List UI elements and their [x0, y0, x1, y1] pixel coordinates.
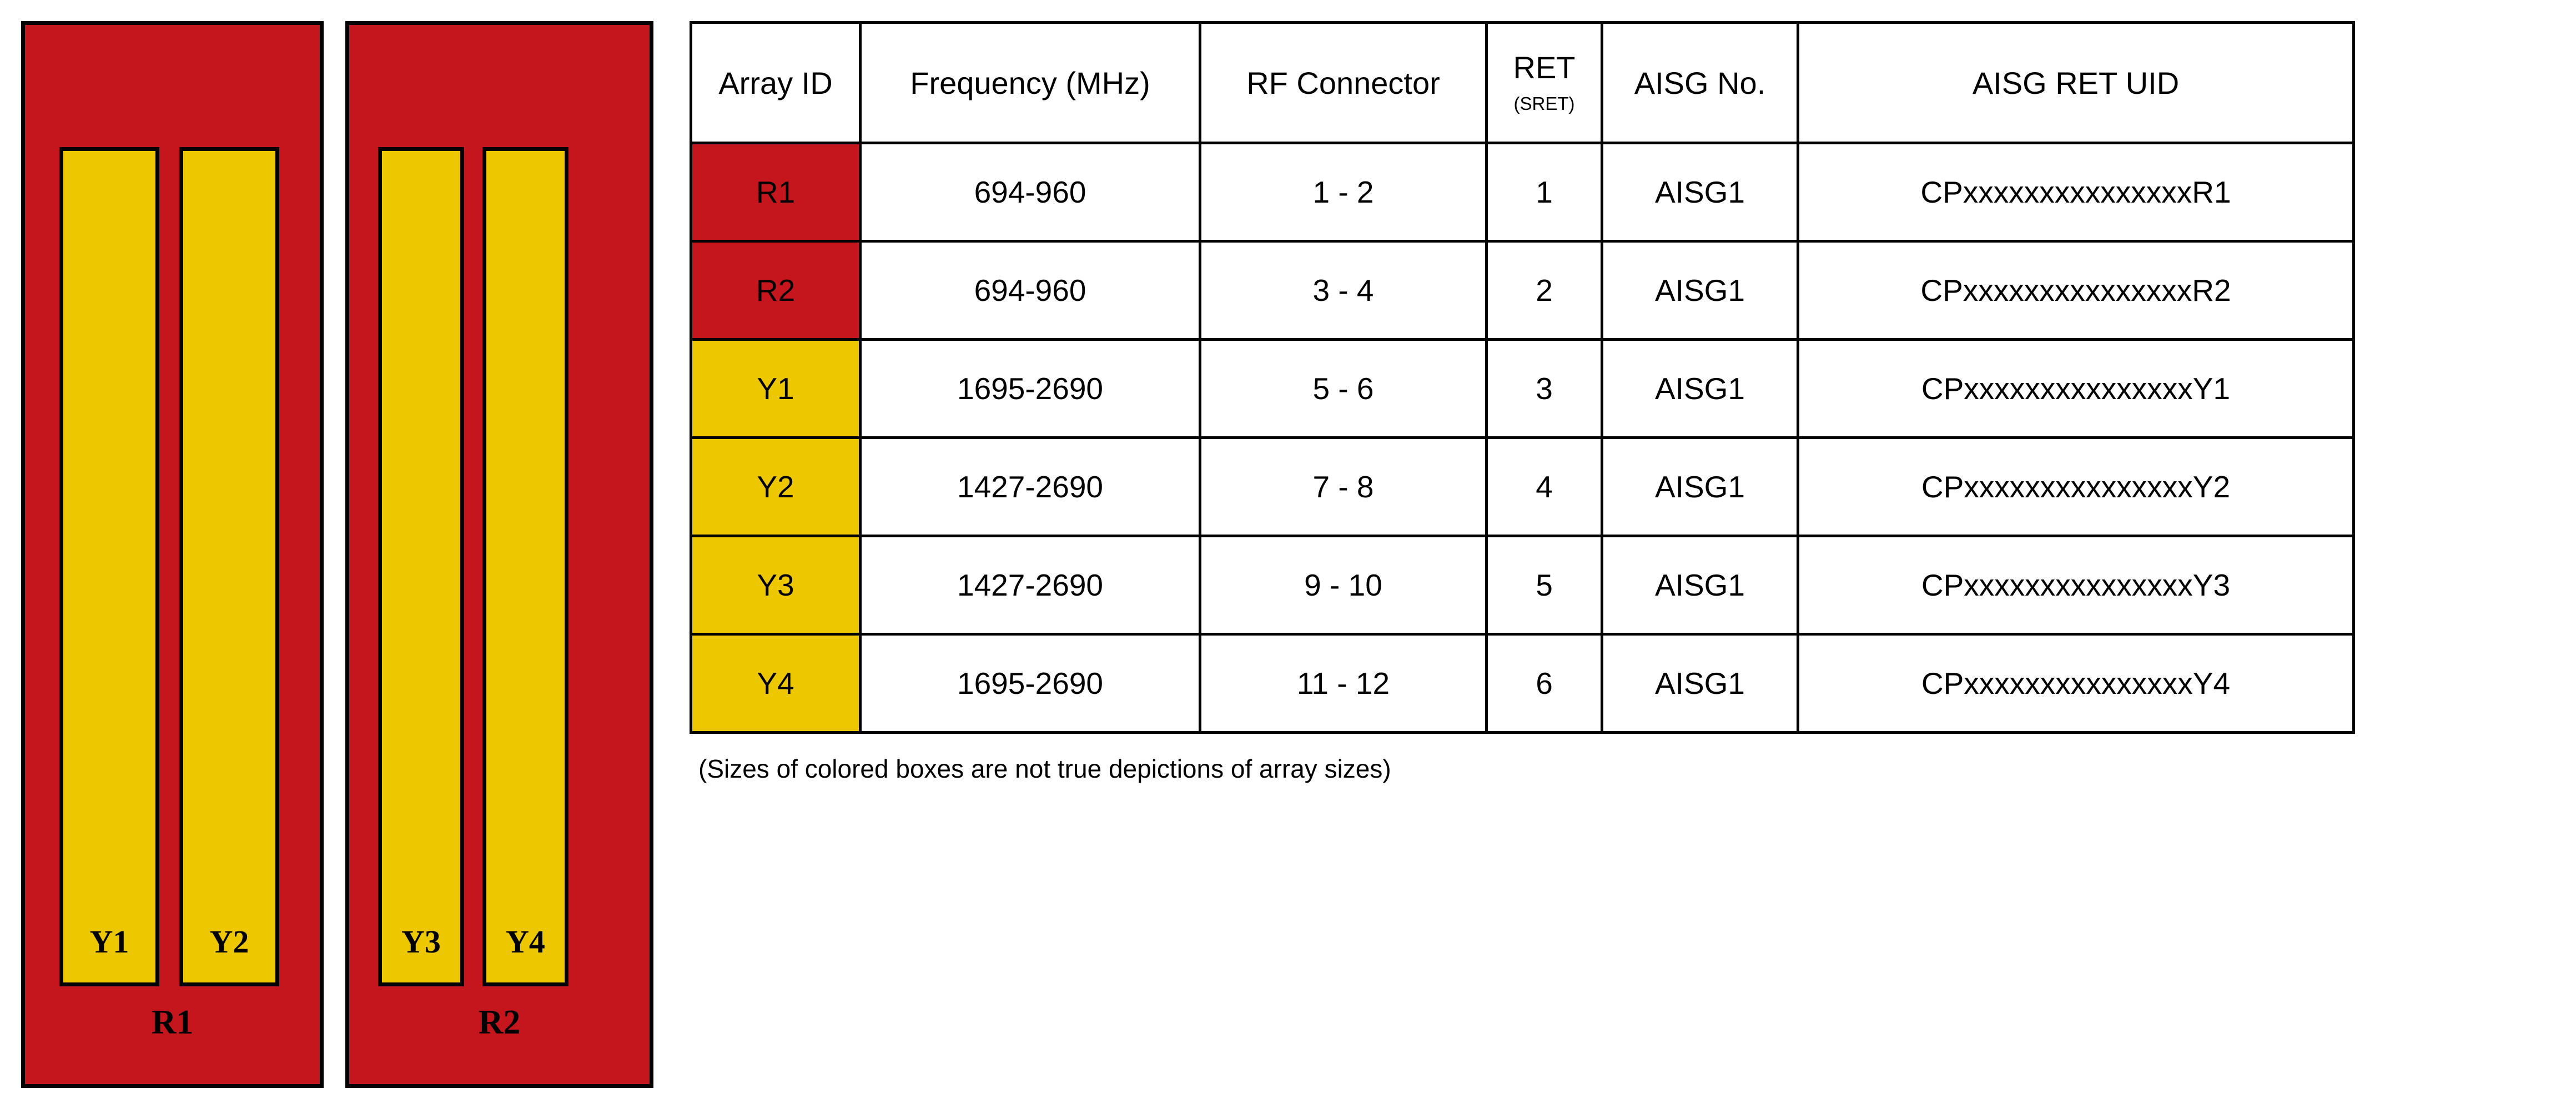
- cell-aisg-no: AISG1: [1602, 536, 1798, 634]
- ret-table-header: Array ID Frequency (MHz) RF Connector RE…: [691, 23, 2354, 143]
- cell-rf-connector: 3 - 4: [1200, 241, 1487, 340]
- cell-aisg-ret-uid: CPxxxxxxxxxxxxxxxY3: [1798, 536, 2354, 634]
- cell-aisg-ret-uid: CPxxxxxxxxxxxxxxxR2: [1798, 241, 2354, 340]
- cell-aisg-ret-uid: CPxxxxxxxxxxxxxxxR1: [1798, 143, 2354, 241]
- cell-aisg-no: AISG1: [1602, 634, 1798, 733]
- cell-aisg-no: AISG1: [1602, 241, 1798, 340]
- array-diagram: Y1 Y2 R1 Y3 Y4 R2: [0, 0, 683, 1119]
- cell-frequency: 1427-2690: [861, 536, 1200, 634]
- cell-frequency: 1427-2690: [861, 438, 1200, 536]
- table-footnote: (Sizes of colored boxes are not true dep…: [698, 754, 1391, 784]
- ret-table-container: Array ID Frequency (MHz) RF Connector RE…: [690, 21, 2352, 734]
- cell-frequency: 694-960: [861, 143, 1200, 241]
- subarray-box-y3: Y3: [378, 147, 464, 986]
- cell-aisg-no: AISG1: [1602, 438, 1798, 536]
- column-header-aisg-ret-uid: AISG RET UID: [1798, 23, 2354, 143]
- cell-ret: 1: [1487, 143, 1602, 241]
- cell-aisg-ret-uid: CPxxxxxxxxxxxxxxxY2: [1798, 438, 2354, 536]
- table-row: Y4 1695-2690 11 - 12 6 AISG1 CPxxxxxxxxx…: [691, 634, 2354, 733]
- cell-frequency: 694-960: [861, 241, 1200, 340]
- cell-ret: 4: [1487, 438, 1602, 536]
- cell-aisg-no: AISG1: [1602, 143, 1798, 241]
- subarray-label-y2: Y2: [210, 926, 249, 982]
- subarray-label-y4: Y4: [506, 926, 545, 982]
- subarray-label-y1: Y1: [90, 926, 129, 982]
- table-header-row: Array ID Frequency (MHz) RF Connector RE…: [691, 23, 2354, 143]
- array-panel-label-r1: R1: [25, 1005, 320, 1040]
- cell-rf-connector: 7 - 8: [1200, 438, 1487, 536]
- table-row: R2 694-960 3 - 4 2 AISG1 CPxxxxxxxxxxxxx…: [691, 241, 2354, 340]
- cell-array-id: R1: [691, 143, 861, 241]
- cell-aisg-no: AISG1: [1602, 340, 1798, 438]
- cell-ret: 6: [1487, 634, 1602, 733]
- column-header-aisg-no: AISG No.: [1602, 23, 1798, 143]
- cell-array-id: R2: [691, 241, 861, 340]
- cell-rf-connector: 5 - 6: [1200, 340, 1487, 438]
- cell-ret: 2: [1487, 241, 1602, 340]
- cell-array-id: Y3: [691, 536, 861, 634]
- array-panel-label-r2: R2: [349, 1005, 650, 1040]
- cell-rf-connector: 1 - 2: [1200, 143, 1487, 241]
- table-row: R1 694-960 1 - 2 1 AISG1 CPxxxxxxxxxxxxx…: [691, 143, 2354, 241]
- subarray-box-y1: Y1: [59, 147, 159, 986]
- cell-rf-connector: 9 - 10: [1200, 536, 1487, 634]
- column-header-ret: RET (SRET): [1487, 23, 1602, 143]
- cell-aisg-ret-uid: CPxxxxxxxxxxxxxxxY1: [1798, 340, 2354, 438]
- column-header-array-id: Array ID: [691, 23, 861, 143]
- array-panel-r2: Y3 Y4 R2: [345, 21, 653, 1088]
- cell-ret: 3: [1487, 340, 1602, 438]
- ret-table: Array ID Frequency (MHz) RF Connector RE…: [690, 21, 2355, 734]
- table-row: Y2 1427-2690 7 - 8 4 AISG1 CPxxxxxxxxxxx…: [691, 438, 2354, 536]
- column-header-frequency: Frequency (MHz): [861, 23, 1200, 143]
- array-panel-r1: Y1 Y2 R1: [21, 21, 324, 1088]
- cell-aisg-ret-uid: CPxxxxxxxxxxxxxxxY4: [1798, 634, 2354, 733]
- column-header-ret-main: RET: [1488, 52, 1601, 84]
- column-header-rf-connector: RF Connector: [1200, 23, 1487, 143]
- ret-table-body: R1 694-960 1 - 2 1 AISG1 CPxxxxxxxxxxxxx…: [691, 143, 2354, 733]
- table-row: Y3 1427-2690 9 - 10 5 AISG1 CPxxxxxxxxxx…: [691, 536, 2354, 634]
- table-row: Y1 1695-2690 5 - 6 3 AISG1 CPxxxxxxxxxxx…: [691, 340, 2354, 438]
- column-header-ret-sub: (SRET): [1488, 94, 1601, 114]
- subarray-label-y3: Y3: [401, 926, 441, 982]
- cell-array-id: Y2: [691, 438, 861, 536]
- cell-array-id: Y1: [691, 340, 861, 438]
- cell-array-id: Y4: [691, 634, 861, 733]
- cell-frequency: 1695-2690: [861, 634, 1200, 733]
- cell-rf-connector: 11 - 12: [1200, 634, 1487, 733]
- subarray-box-y4: Y4: [482, 147, 568, 986]
- cell-ret: 5: [1487, 536, 1602, 634]
- subarray-box-y2: Y2: [179, 147, 279, 986]
- cell-frequency: 1695-2690: [861, 340, 1200, 438]
